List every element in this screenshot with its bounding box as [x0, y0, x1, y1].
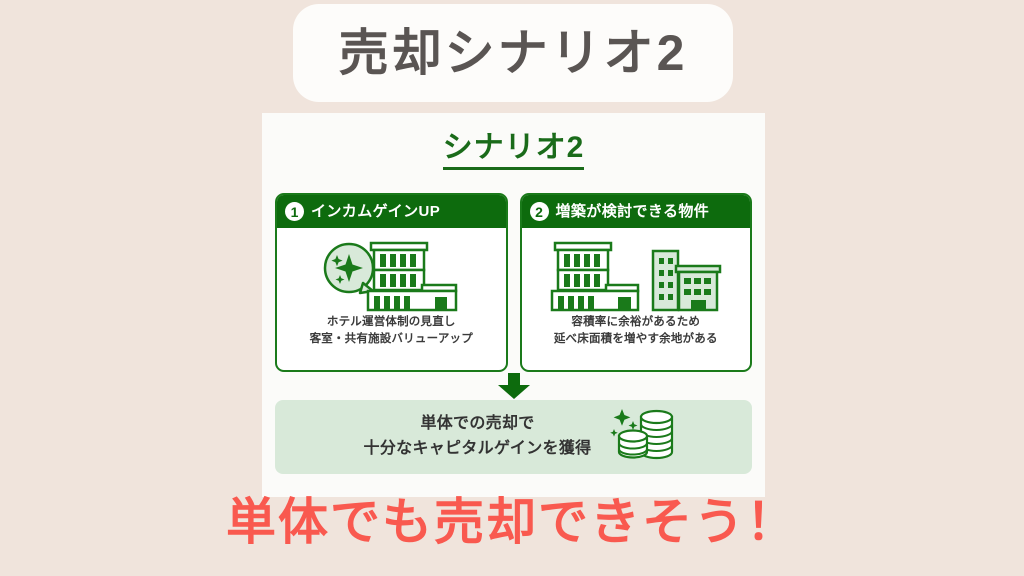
card-caption-line2: 延べ床面積を増やす余地がある	[554, 331, 718, 348]
card-header: 2 増築が検討できる物件	[522, 195, 751, 228]
panel-heading-label: シナリオ2	[443, 131, 585, 170]
scenario-panel: シナリオ2 1 インカムゲインUP	[262, 113, 765, 497]
down-arrow-icon	[497, 373, 531, 399]
result-line2: 十分なキャピタルゲインを獲得	[364, 437, 592, 462]
result-line1: 単体での売却で	[364, 412, 592, 437]
coin-stack-sparkle-icon	[605, 405, 677, 470]
result-box: 単体での売却で 十分なキャピタルゲインを獲得	[275, 400, 752, 474]
result-text: 単体での売却で 十分なキャピタルゲインを獲得	[364, 412, 592, 462]
card-title: 増築が検討できる物件	[556, 204, 710, 219]
card-caption-line1: ホテル運営体制の見直し	[310, 314, 473, 331]
card-title: インカムゲインUP	[311, 204, 440, 219]
card-body: ホテル運営体制の見直し 客室・共有施設バリューアップ	[277, 228, 506, 370]
bottom-caption: 単体でも売却できそう！	[0, 495, 1024, 550]
title-pill: 売却シナリオ2	[293, 4, 733, 102]
two-buildings-expansion-icon	[541, 236, 731, 314]
card-caption-line2: 客室・共有施設バリューアップ	[310, 331, 473, 348]
card-income-gain: 1 インカムゲインUP	[275, 193, 508, 372]
card-caption: 容積率に余裕があるため 延べ床面積を増やす余地がある	[554, 314, 718, 349]
card-caption-line1: 容積率に余裕があるため	[554, 314, 718, 331]
card-number-badge: 1	[285, 202, 304, 221]
card-number-badge: 2	[530, 202, 549, 221]
cards-row: 1 インカムゲインUP	[275, 193, 752, 372]
card-caption: ホテル運営体制の見直し 客室・共有施設バリューアップ	[310, 314, 473, 349]
hotel-building-sparkle-icon	[316, 236, 466, 314]
card-body: 容積率に余裕があるため 延べ床面積を増やす余地がある	[522, 228, 751, 370]
card-expansion-property: 2 増築が検討できる物件	[520, 193, 753, 372]
page-title: 売却シナリオ2	[339, 28, 688, 78]
card-header: 1 インカムゲインUP	[277, 195, 506, 228]
panel-heading: シナリオ2	[262, 131, 765, 170]
